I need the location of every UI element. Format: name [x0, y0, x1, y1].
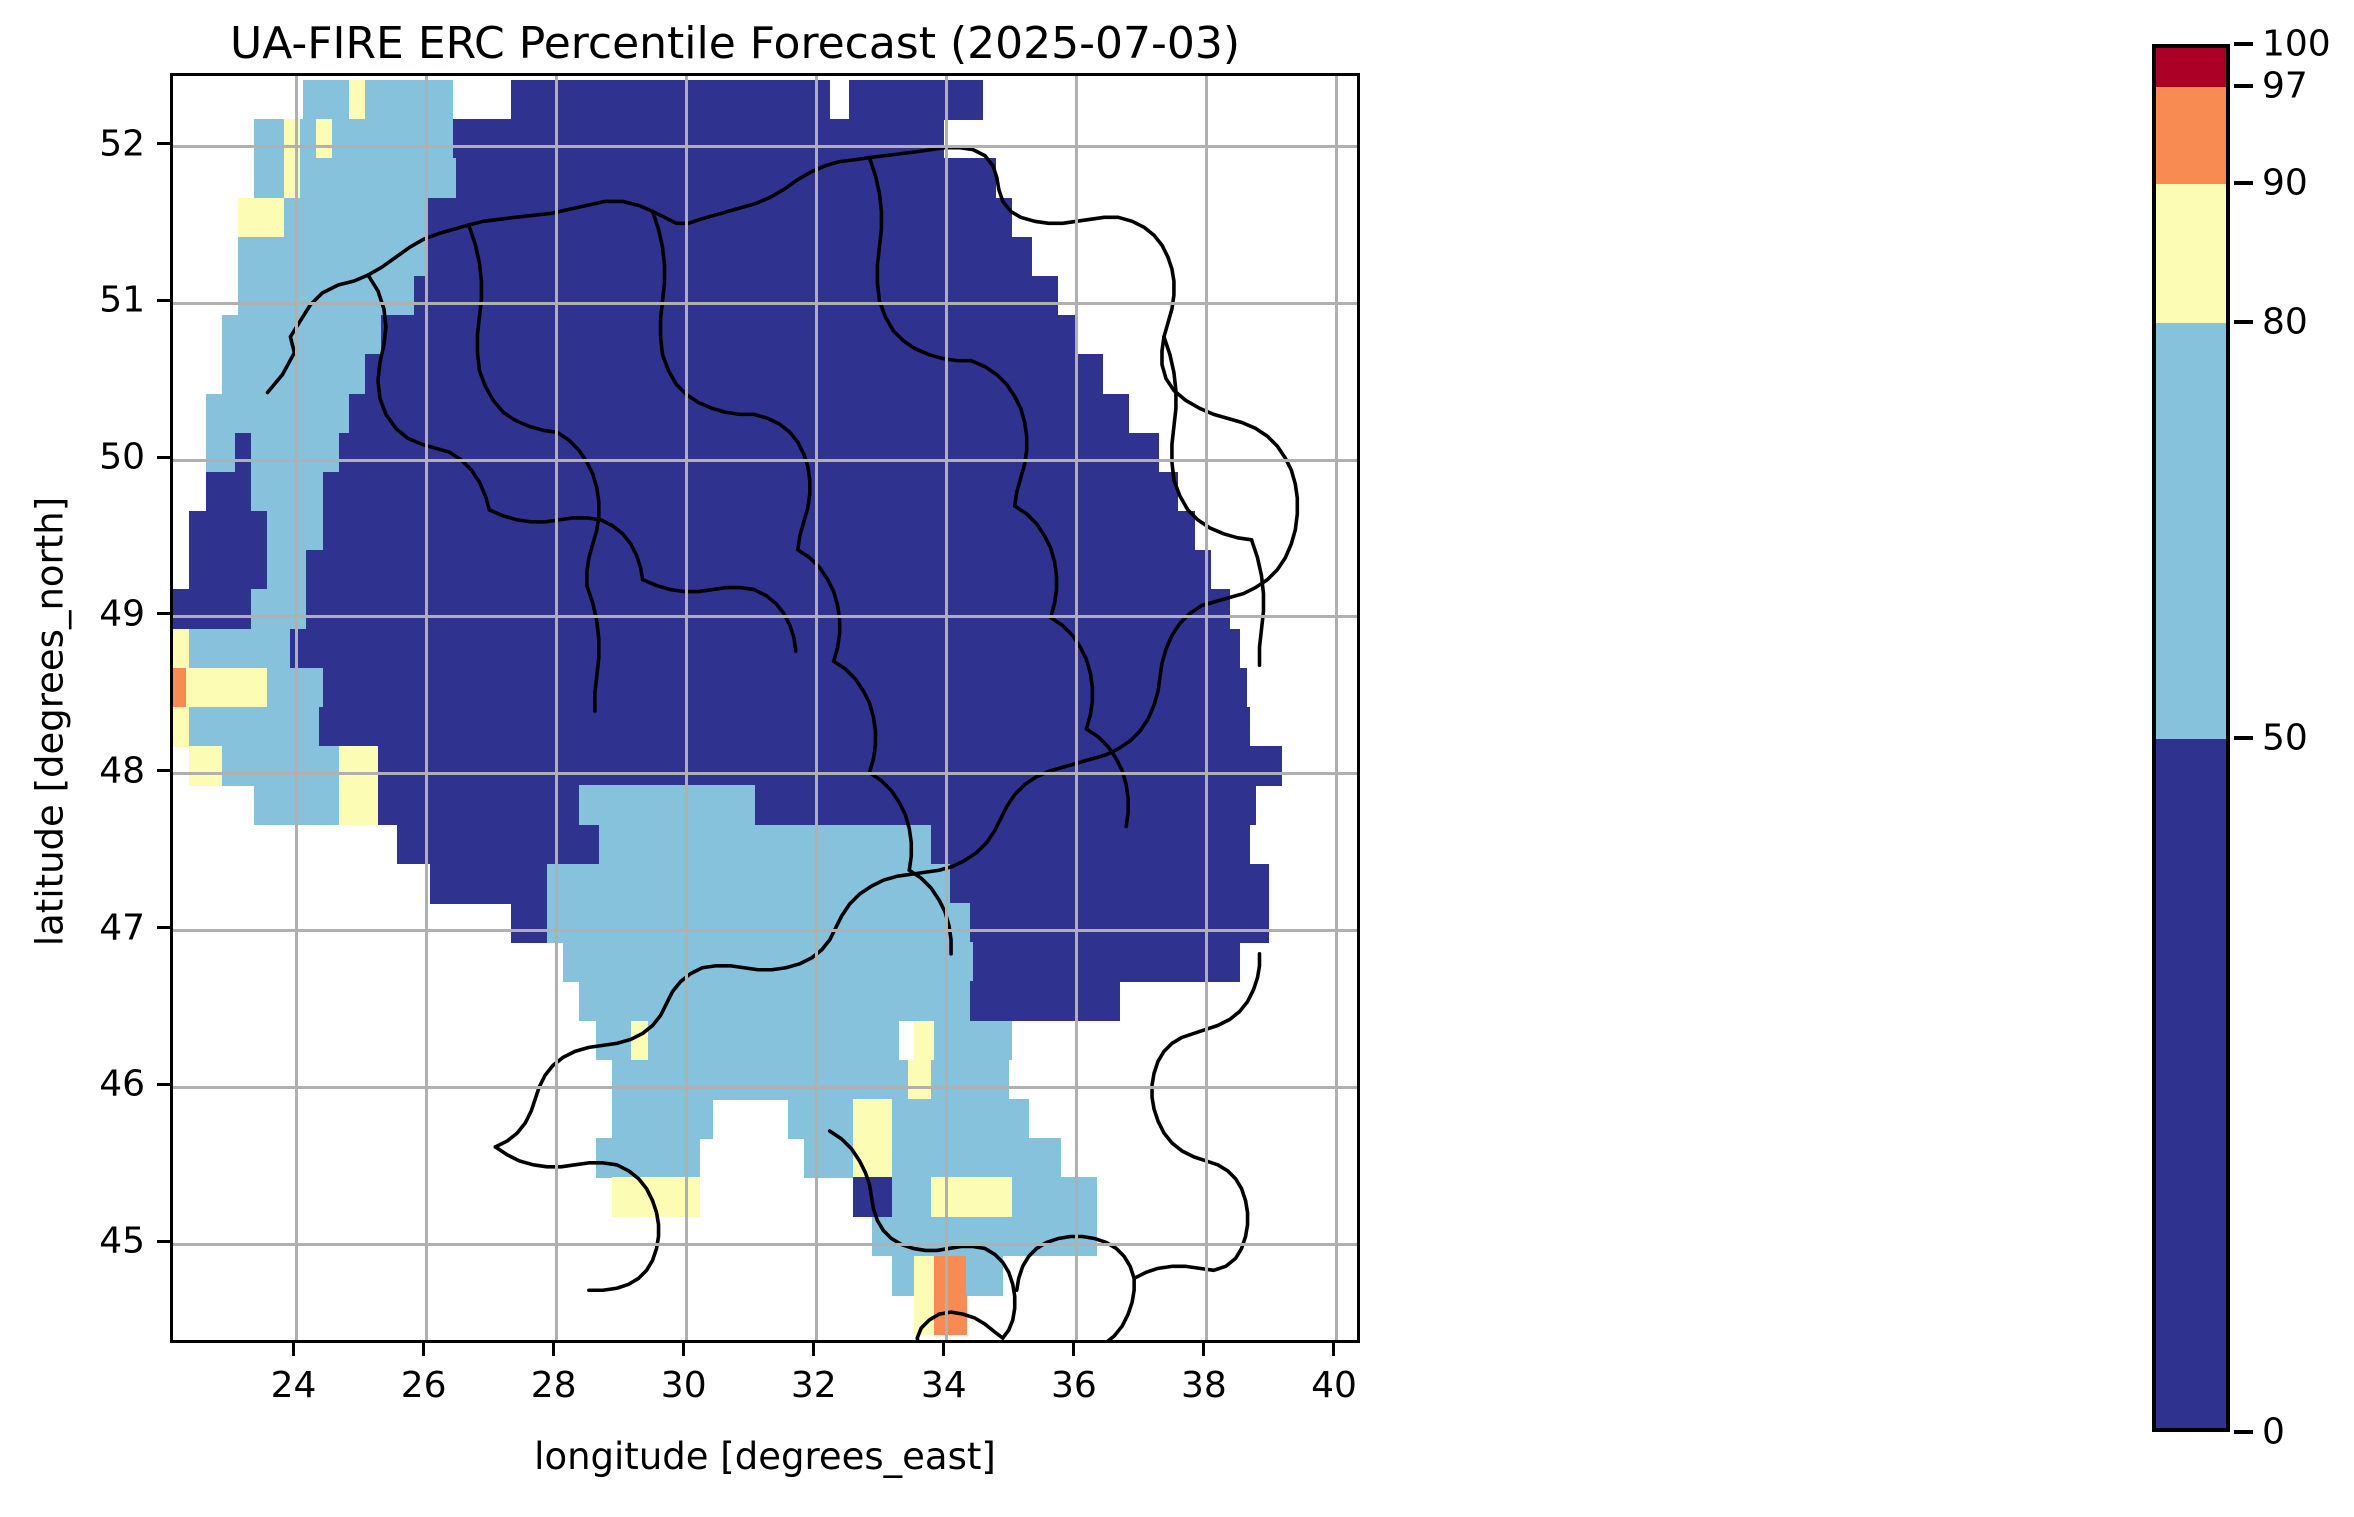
raster-cell — [323, 472, 1179, 512]
raster-cell — [206, 394, 350, 434]
y-tick-label: 45 — [45, 1221, 145, 1262]
raster-cell — [339, 746, 379, 786]
x-tick-label: 30 — [661, 1365, 707, 1406]
raster-cell — [414, 276, 1058, 316]
x-tick-label: 32 — [791, 1365, 837, 1406]
raster-cell — [648, 1060, 909, 1100]
y-tick-mark — [157, 926, 170, 929]
colorbar-tick-label: 0 — [2262, 1412, 2285, 1453]
raster-cell — [332, 119, 453, 159]
raster-cell — [914, 1256, 934, 1296]
colorbar-tick-label: 50 — [2262, 718, 2308, 759]
x-axis-label: longitude [degrees_east] — [170, 1435, 1360, 1478]
raster-cell — [254, 158, 284, 198]
raster-cell — [378, 785, 580, 825]
colorbar-tick-mark — [2234, 1430, 2253, 1434]
raster-cell — [579, 981, 970, 1021]
raster-cell — [238, 276, 414, 316]
raster-cell — [267, 550, 307, 590]
raster-cell — [511, 80, 830, 120]
raster-cell — [349, 394, 1130, 434]
x-tick-label: 34 — [921, 1365, 967, 1406]
raster-cell — [316, 119, 333, 159]
raster-cell — [755, 785, 1256, 825]
raster-cell — [596, 1138, 701, 1178]
raster-cell — [381, 315, 1077, 355]
colorbar-tick-label: 80 — [2262, 301, 2308, 342]
raster-cell — [251, 629, 291, 669]
x-tick-mark — [552, 1343, 555, 1356]
raster-cell — [254, 785, 339, 825]
raster-cell — [612, 1060, 648, 1100]
raster-cell — [284, 119, 301, 159]
colorbar[interactable] — [2152, 44, 2230, 1432]
raster-cell — [599, 864, 951, 904]
y-tick-mark — [157, 142, 170, 145]
x-tick-mark — [942, 1343, 945, 1356]
x-tick-mark — [422, 1343, 425, 1356]
x-tick-label: 28 — [531, 1365, 577, 1406]
raster-cell — [189, 550, 268, 590]
raster-cell — [173, 668, 187, 708]
raster-cell — [189, 511, 268, 551]
raster-cell — [970, 981, 1120, 1021]
raster-cell — [934, 1295, 967, 1335]
colorbar-segment — [2156, 322, 2226, 739]
raster-cell — [612, 1099, 648, 1139]
raster-cell — [349, 80, 366, 120]
x-tick-mark — [1202, 1343, 1205, 1356]
colorbar-segment — [2156, 738, 2226, 1432]
colorbar-tick-mark — [2234, 181, 2253, 185]
raster-cell — [365, 354, 1104, 394]
colorbar-tick-mark — [2234, 42, 2253, 46]
colorbar-tick-label: 90 — [2262, 162, 2308, 203]
raster-cell — [934, 1256, 967, 1296]
raster-cell — [173, 629, 190, 669]
raster-cell — [251, 472, 323, 512]
x-tick-mark — [292, 1343, 295, 1356]
raster-cell — [303, 80, 349, 120]
raster-cell — [892, 1177, 932, 1217]
raster-cell — [547, 825, 600, 865]
raster-cell — [189, 707, 320, 747]
y-axis-label: latitude [degrees_north] — [29, 322, 72, 1122]
raster-cell — [931, 1060, 1010, 1100]
raster-cell — [966, 1256, 1002, 1296]
raster-cell — [908, 1217, 931, 1257]
raster-cell — [892, 1099, 1029, 1139]
y-tick-mark — [157, 612, 170, 615]
raster-cell — [547, 864, 600, 904]
raster-cell — [397, 825, 547, 865]
raster-cell — [222, 354, 366, 394]
raster-cell — [186, 668, 268, 708]
x-tick-mark — [812, 1343, 815, 1356]
colorbar-tick-label: 97 — [2262, 65, 2308, 106]
raster-cell — [853, 1138, 893, 1178]
raster-cell — [648, 1021, 899, 1061]
raster-cell — [996, 1217, 1097, 1257]
raster-cell — [934, 1021, 1013, 1061]
x-tick-label: 36 — [1051, 1365, 1097, 1406]
colorbar-segment — [2156, 86, 2226, 184]
map-plot-area[interactable] — [170, 73, 1360, 1343]
raster-cell — [222, 746, 340, 786]
raster-cell — [648, 1099, 714, 1139]
raster-cell — [579, 785, 755, 825]
raster-cell — [206, 433, 236, 473]
y-tick-label: 51 — [45, 280, 145, 321]
raster-cell — [235, 433, 252, 473]
figure-canvas: UA-FIRE ERC Percentile Forecast (2025-07… — [0, 0, 2354, 1517]
x-tick-label: 26 — [401, 1365, 447, 1406]
y-tick-mark — [157, 769, 170, 772]
raster-cell — [849, 80, 931, 120]
colorbar-tick-label: 100 — [2262, 24, 2331, 65]
raster-cell — [456, 158, 996, 198]
y-tick-mark — [157, 456, 170, 459]
raster-cell — [914, 1021, 934, 1061]
y-tick-mark — [157, 299, 170, 302]
raster-cell — [251, 589, 307, 629]
raster-cell — [973, 942, 1240, 982]
y-tick-label: 52 — [45, 123, 145, 164]
raster-cell — [1012, 1177, 1097, 1217]
raster-cell — [914, 1295, 934, 1335]
y-tick-mark — [157, 1083, 170, 1086]
raster-cell — [892, 1138, 1062, 1178]
x-tick-label: 38 — [1181, 1365, 1227, 1406]
raster-cell — [284, 158, 301, 198]
raster-cell — [872, 1217, 908, 1257]
raster-cell — [453, 119, 945, 159]
raster-cell — [970, 903, 1270, 943]
raster-cell — [306, 589, 1230, 629]
x-tick-label: 40 — [1311, 1365, 1357, 1406]
raster-cell — [238, 198, 284, 238]
raster-cell — [300, 119, 317, 159]
raster-cell — [931, 1217, 997, 1257]
raster-cell — [430, 864, 548, 904]
raster-cell — [892, 1256, 915, 1296]
raster-cell — [319, 707, 1249, 747]
raster-cell — [251, 433, 339, 473]
raster-cell — [189, 746, 222, 786]
raster-cell — [631, 1021, 648, 1061]
raster-cell — [267, 668, 323, 708]
raster-cell — [206, 472, 252, 512]
x-tick-label: 24 — [271, 1365, 317, 1406]
raster-cell — [931, 825, 1250, 865]
raster-cell — [365, 80, 453, 120]
raster-cell — [290, 629, 1240, 669]
raster-cell — [596, 1021, 632, 1061]
raster-cell — [427, 198, 1013, 238]
raster-cell — [339, 433, 1159, 473]
raster-cell — [254, 119, 284, 159]
raster-cell — [511, 903, 547, 943]
raster-cell — [563, 942, 973, 982]
raster-cell — [547, 903, 970, 943]
raster-cell — [238, 237, 427, 277]
raster-cell — [612, 1177, 648, 1217]
colorbar-tick-mark — [2234, 736, 2253, 740]
raster-cell — [300, 158, 369, 198]
x-tick-mark — [1072, 1343, 1075, 1356]
raster-cell — [222, 315, 382, 355]
raster-cell — [306, 550, 1210, 590]
raster-cell — [804, 1138, 853, 1178]
raster-cell — [853, 1177, 893, 1217]
raster-cell — [378, 746, 1282, 786]
erc-percentile-raster — [173, 76, 1357, 1340]
raster-cell — [788, 1099, 854, 1139]
raster-cell — [368, 158, 456, 198]
raster-cell — [950, 864, 1269, 904]
y-tick-mark — [157, 1240, 170, 1243]
raster-cell — [323, 668, 1247, 708]
x-tick-mark — [682, 1343, 685, 1356]
raster-cell — [931, 1177, 1013, 1217]
raster-cell — [908, 1060, 931, 1100]
raster-cell — [173, 707, 190, 747]
raster-cell — [284, 198, 428, 238]
raster-cell — [173, 589, 252, 629]
x-tick-mark — [1332, 1343, 1335, 1356]
colorbar-tick-mark — [2234, 84, 2253, 88]
colorbar-segment — [2156, 44, 2226, 87]
raster-cell — [853, 1099, 893, 1139]
raster-cell — [339, 785, 379, 825]
raster-cell — [931, 80, 984, 120]
raster-cell — [267, 511, 323, 551]
raster-cell — [427, 237, 1032, 277]
raster-cell — [648, 1177, 701, 1217]
colorbar-segment — [2156, 183, 2226, 323]
raster-cell — [599, 825, 931, 865]
colorbar-tick-mark — [2234, 320, 2253, 324]
raster-cell — [189, 629, 251, 669]
raster-cell — [323, 511, 1195, 551]
chart-title: UA-FIRE ERC Percentile Forecast (2025-07… — [0, 18, 1470, 69]
